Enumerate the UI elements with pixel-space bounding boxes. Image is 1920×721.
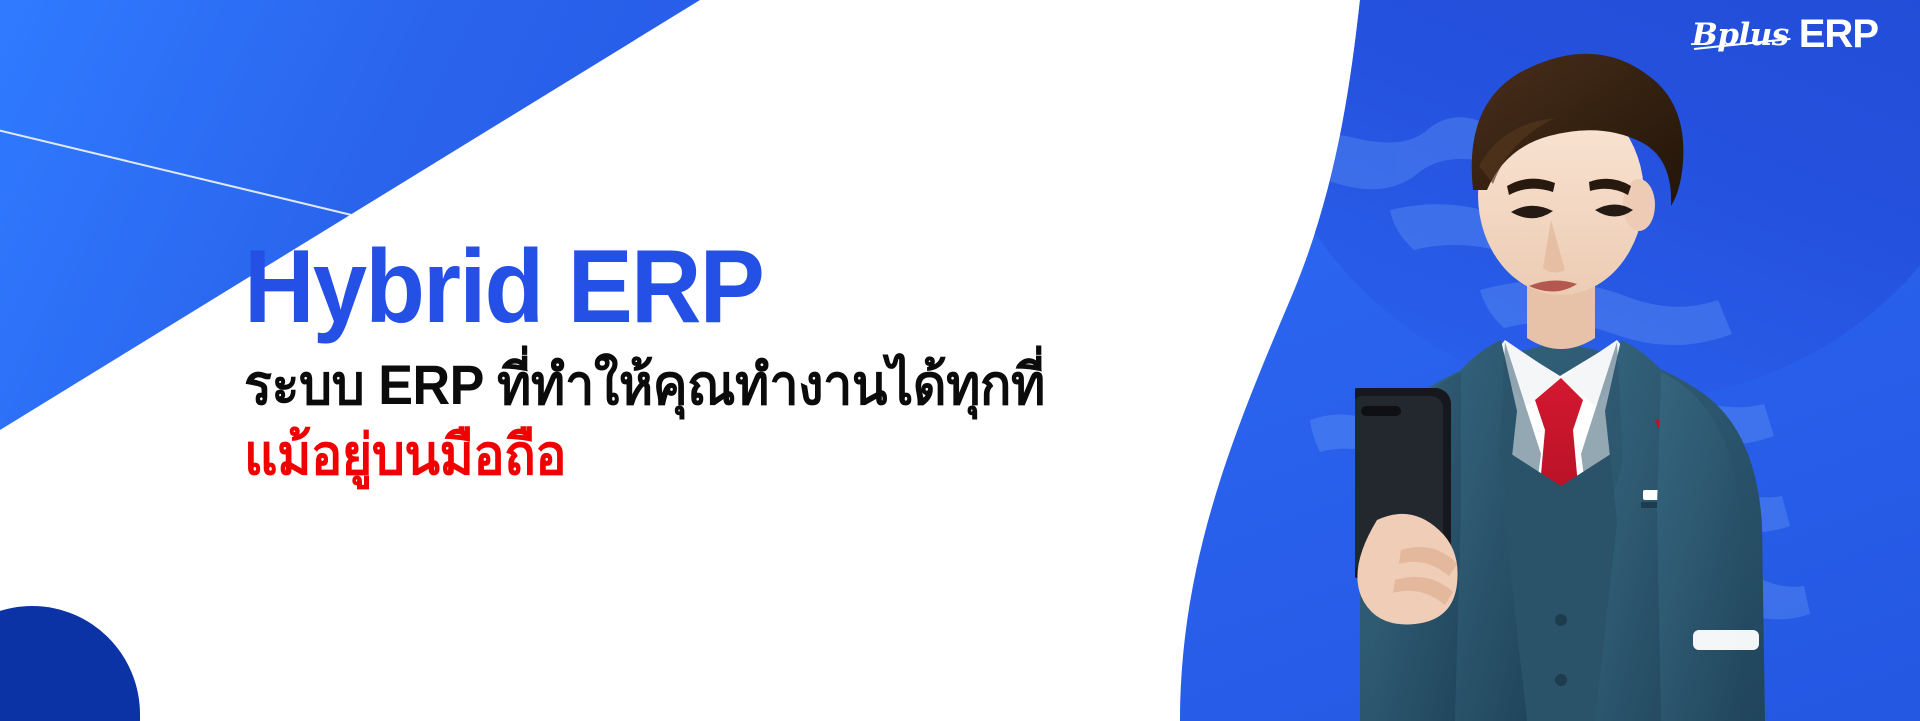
- hero-copy-block: Hybrid ERP ระบบ ERP ที่ทำให้คุณทำงานได้ท…: [244, 238, 1105, 488]
- businessman-photo: [1355, 20, 1785, 721]
- hero-banner: Bplus ERP Hybrid ERP ระบบ ERP ที่ทำให้คุ…: [0, 0, 1920, 721]
- hero-tagline: แม้อยู่บนมือถือ: [244, 422, 1045, 488]
- bplus-erp-logo[interactable]: Bplus ERP: [1692, 14, 1878, 54]
- bplus-script-wordmark: Bplus: [1692, 20, 1789, 51]
- navy-blob-decoration: [0, 606, 140, 721]
- erp-wordmark: ERP: [1799, 14, 1878, 54]
- hero-headline: Hybrid ERP: [244, 238, 1053, 338]
- hero-subheadline: ระบบ ERP ที่ทำให้คุณทำงานได้ทุกที่: [244, 352, 1045, 418]
